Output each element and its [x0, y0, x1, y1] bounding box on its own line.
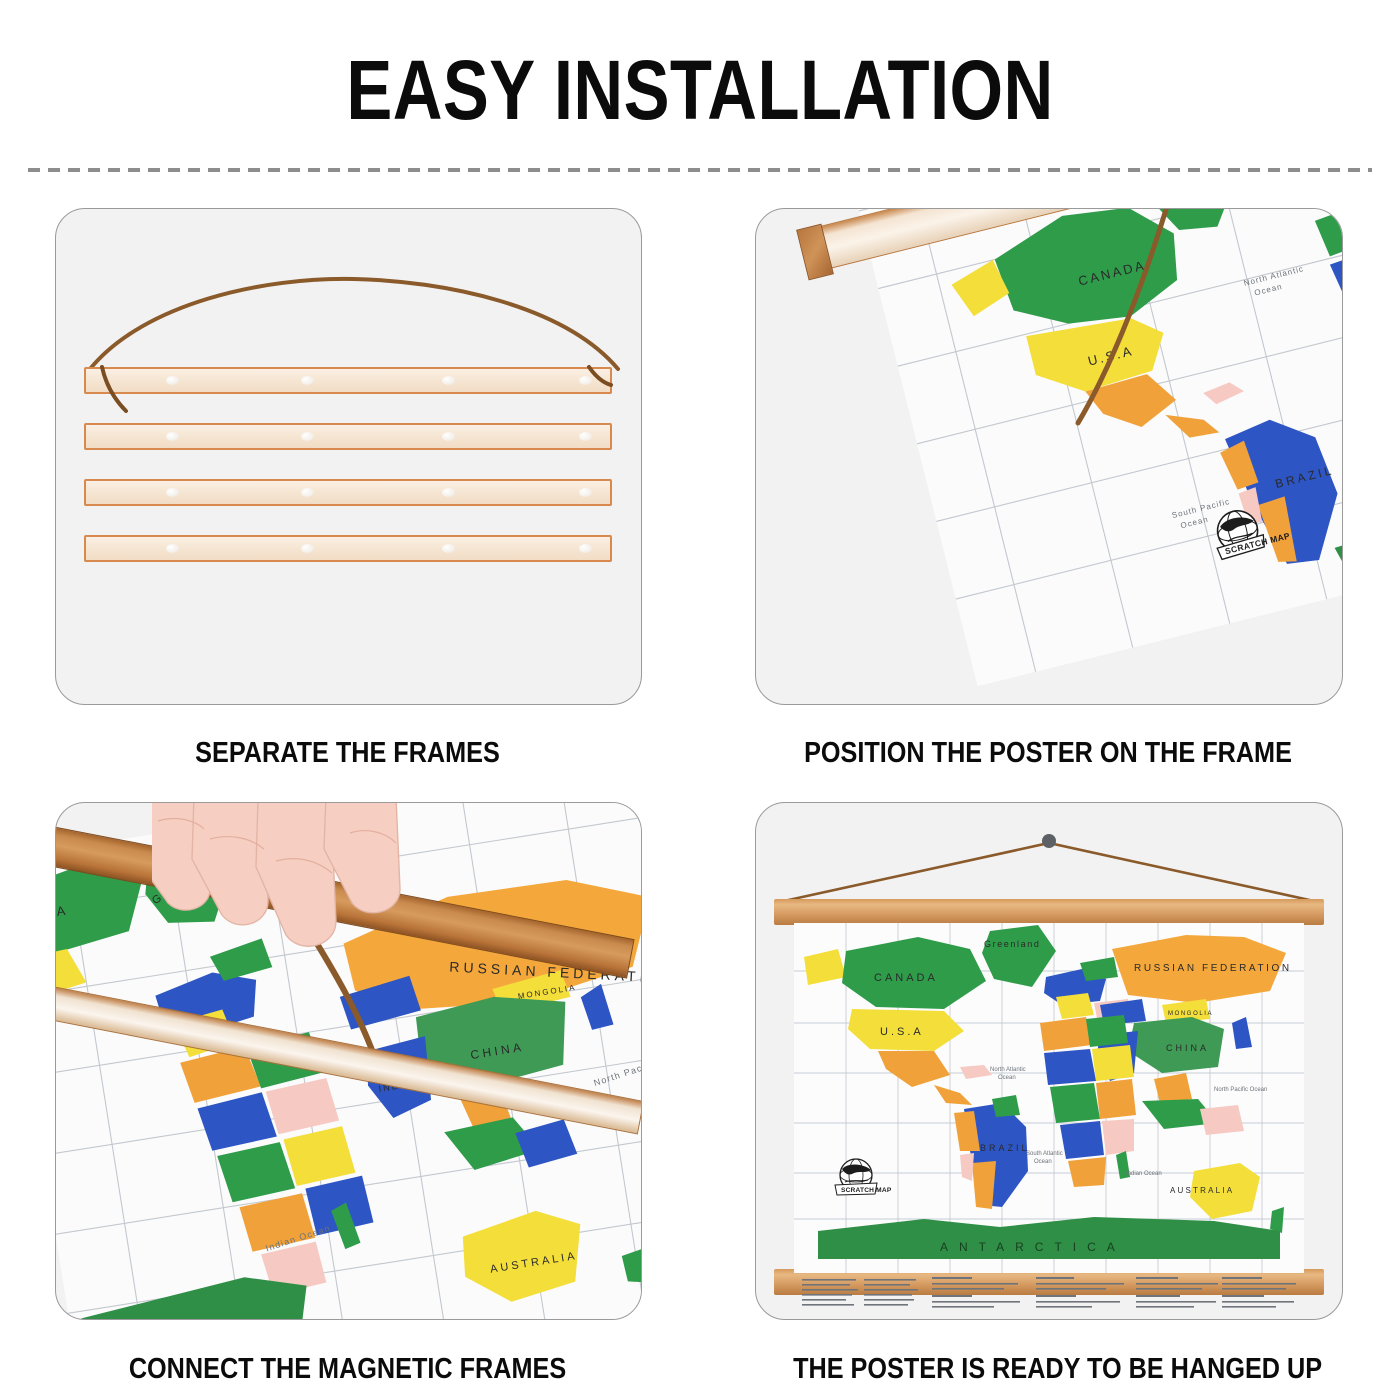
svg-text:Ocean: Ocean: [998, 1075, 1016, 1081]
svg-text:North Atlantic: North Atlantic: [990, 1067, 1026, 1073]
svg-text:AUSTRALIA: AUSTRALIA: [1170, 1186, 1234, 1195]
panel-separate-frames: [55, 208, 642, 705]
svg-text:BRAZIL: BRAZIL: [980, 1143, 1030, 1153]
magnet-dot: [579, 544, 592, 553]
scratch-map-poster: CANADA U.S.A Greenland BRAZIL RUSSIAN FE…: [842, 208, 1343, 686]
caption-connect-frames: CONNECT THE MAGNETIC FRAMES: [93, 1352, 602, 1386]
frame-strip: [84, 423, 612, 450]
panel-position-poster: CANADA U.S.A Greenland BRAZIL RUSSIAN FE…: [755, 208, 1343, 705]
svg-text:CHINA: CHINA: [1166, 1043, 1209, 1053]
cord-knot-tail: [84, 359, 624, 419]
svg-text:U.S.A: U.S.A: [880, 1026, 924, 1038]
easy-installation-infographic: EASY INSTALLATION: [0, 0, 1400, 1400]
magnet-dot: [579, 488, 592, 497]
svg-text:Indian Ocean: Indian Ocean: [1126, 1171, 1162, 1177]
scratch-map-poster: CANADA U.S.A Greenland BRAZIL RUSSIAN FE…: [794, 923, 1304, 1273]
svg-text:South Atlantic: South Atlantic: [1026, 1151, 1063, 1157]
svg-text:SCRATCH MAP: SCRATCH MAP: [841, 1187, 892, 1194]
wooden-frame-top: [774, 899, 1324, 925]
svg-text:North Pacific Ocean: North Pacific Ocean: [1214, 1087, 1267, 1093]
svg-text:Greenland: Greenland: [984, 939, 1040, 949]
magnet-dot: [301, 432, 314, 441]
svg-text:Ocean: Ocean: [1034, 1159, 1052, 1165]
magnet-dot: [442, 432, 455, 441]
magnet-dot: [166, 488, 179, 497]
caption-separate-frames: SEPARATE THE FRAMES: [93, 736, 602, 770]
magnet-dot: [301, 488, 314, 497]
map-legend-microtext: [802, 1275, 1298, 1311]
hanging-cord-and-nail: [774, 831, 1324, 905]
magnet-dot: [166, 432, 179, 441]
header-divider: [28, 168, 1372, 172]
hand-illustration: [152, 802, 482, 1093]
svg-text:CANADA: CANADA: [874, 972, 938, 984]
magnet-dot: [301, 544, 314, 553]
frame-strip: [84, 479, 612, 506]
frame-strip: [84, 535, 612, 562]
svg-text:RUSSIAN FEDERATION: RUSSIAN FEDERATION: [1134, 963, 1292, 974]
panel-connect-magnetic-frames: CANADA U.S.A Greenland RUSSIAN FEDERATIO…: [55, 802, 642, 1320]
caption-poster-hanged: THE POSTER IS READY TO BE HANGED UP: [793, 1352, 1303, 1386]
magnet-dot: [442, 488, 455, 497]
page-title: EASY INSTALLATION: [126, 44, 1274, 136]
magnet-dot: [442, 544, 455, 553]
svg-text:MONGOLIA: MONGOLIA: [1168, 1011, 1213, 1017]
caption-position-poster: POSITION THE POSTER ON THE FRAME: [793, 736, 1303, 770]
panel-poster-hanged: CANADA U.S.A Greenland BRAZIL RUSSIAN FE…: [755, 802, 1343, 1320]
svg-text:ANTARCTICA: ANTARCTICA: [940, 1240, 1126, 1254]
magnet-dot: [579, 432, 592, 441]
nail-head: [1042, 834, 1056, 848]
magnet-dot: [166, 544, 179, 553]
